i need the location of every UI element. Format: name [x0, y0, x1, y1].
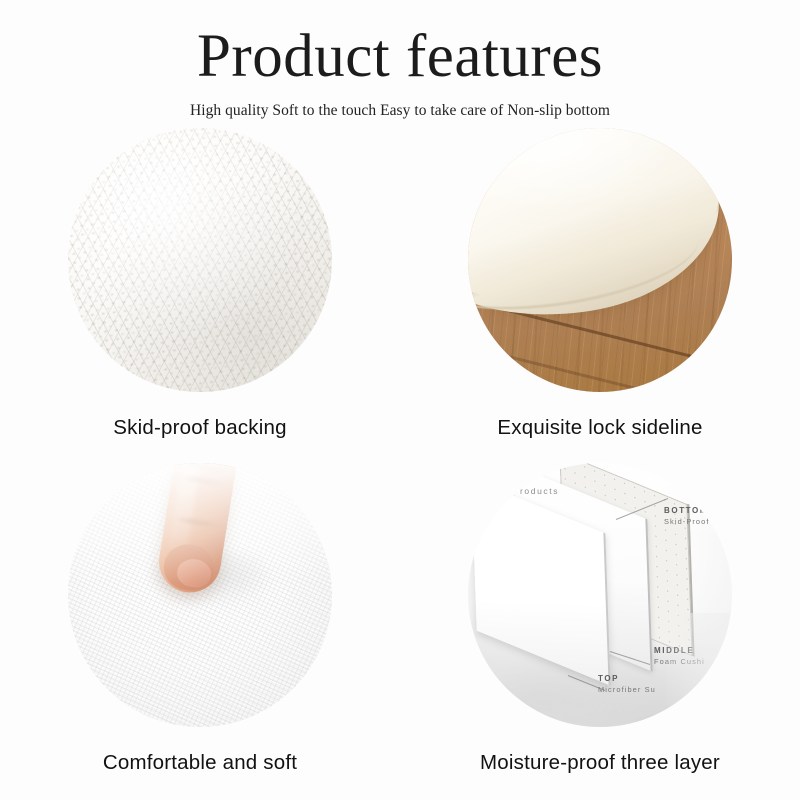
feature-caption: Comfortable and soft	[0, 751, 400, 775]
feature-grid: Skid-proof backing	[0, 128, 800, 798]
feature-row-2: Comfortable and soft	[0, 463, 800, 798]
feature-cell-skid-proof-backing: Skid-proof backing	[0, 128, 400, 463]
feature-row-1: Skid-proof backing	[0, 128, 800, 463]
feature-image-wrap: roducts BOTTOM Skid-Proof MIDDLE Foam Cu…	[468, 463, 732, 727]
layer-label-top-material: Microfiber Su	[598, 685, 656, 696]
moisture-proof-three-layer-photo: roducts BOTTOM Skid-Proof MIDDLE Foam Cu…	[468, 463, 732, 727]
page-title: Product features	[0, 0, 800, 92]
exquisite-lock-sideline-photo	[468, 128, 732, 392]
layer-label-bottom-position: BOTTOM	[664, 505, 710, 517]
feature-caption: Moisture-proof three layer	[400, 751, 800, 775]
product-features-page: Product features High quality Soft to th…	[0, 0, 800, 800]
feature-image-wrap	[68, 463, 332, 727]
feature-cell-comfortable-and-soft: Comfortable and soft	[0, 463, 400, 798]
page-subtitle: High quality Soft to the touch Easy to t…	[0, 92, 800, 120]
soft-mat-top-blur	[68, 463, 332, 583]
mesh-shading	[68, 128, 332, 392]
feature-caption: Exquisite lock sideline	[400, 416, 800, 440]
layer-label-bottom: BOTTOM Skid-Proof	[664, 505, 710, 527]
layer-label-middle-material: Foam Cushi	[654, 657, 705, 668]
layer-label-bottom-material: Skid-Proof	[664, 517, 710, 528]
diagram-watermark: roducts	[520, 485, 559, 497]
comfortable-and-soft-photo	[68, 463, 332, 727]
layer-label-top: TOP Microfiber Su	[598, 673, 656, 695]
layer-label-top-position: TOP	[598, 673, 656, 685]
skid-proof-backing-photo	[68, 128, 332, 392]
feature-cell-exquisite-lock-sideline: Exquisite lock sideline	[400, 128, 800, 463]
feature-caption: Skid-proof backing	[0, 416, 400, 440]
page-header: Product features High quality Soft to th…	[0, 0, 800, 120]
layer-label-middle: MIDDLE Foam Cushi	[654, 645, 705, 667]
feature-cell-moisture-proof-three-layer: roducts BOTTOM Skid-Proof MIDDLE Foam Cu…	[400, 463, 800, 798]
layer-label-middle-position: MIDDLE	[654, 645, 705, 657]
feature-image-wrap	[468, 128, 732, 392]
feature-image-wrap	[68, 128, 332, 392]
